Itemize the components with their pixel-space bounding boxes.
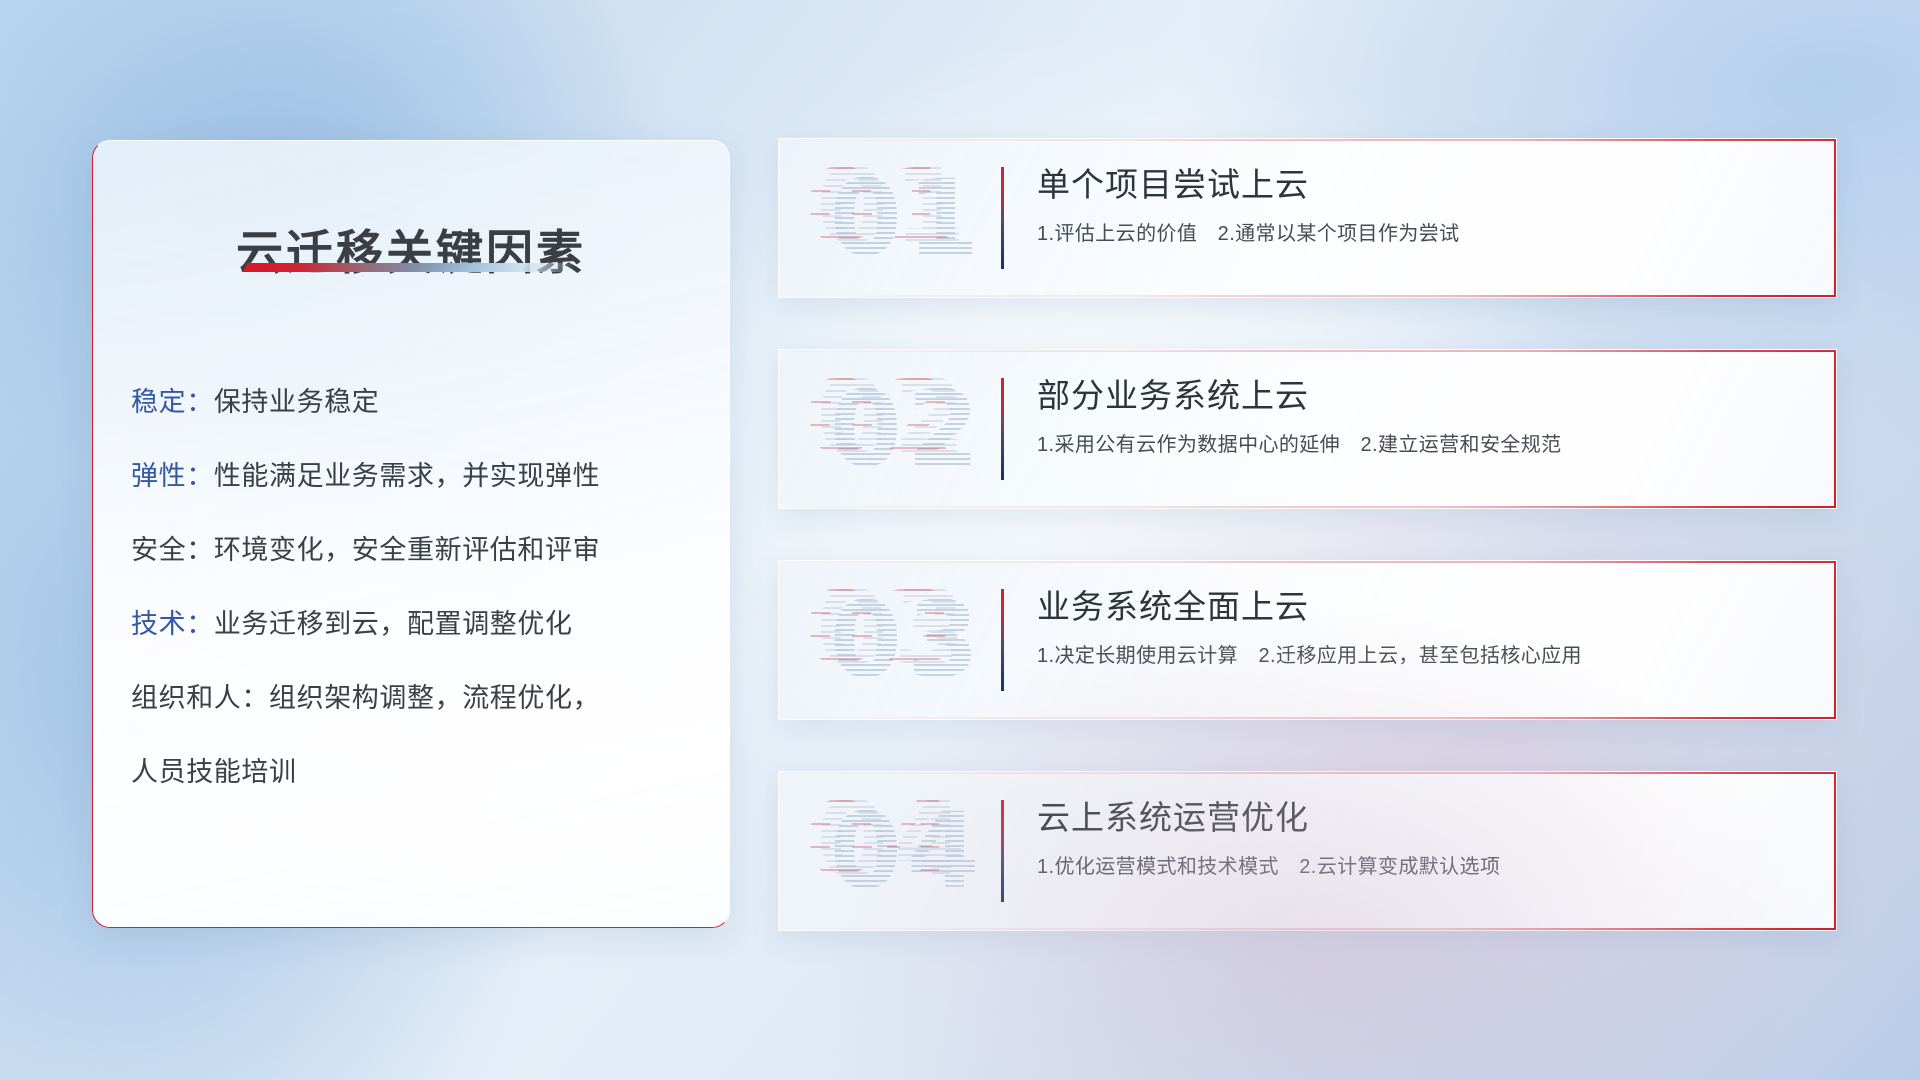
- card-right-accent-rail: [1834, 350, 1836, 508]
- key-factors-list: 稳定：保持业务稳定弹性：性能满足业务需求，并实现弹性安全：环境变化，安全重新评估…: [93, 365, 729, 809]
- factor-key: 组织和人：: [131, 683, 269, 713]
- step-subtitle: 1.采用公有云作为数据中心的延伸 2.建立运营和安全规范: [1037, 431, 1810, 459]
- step-number-red-glitch-layer: 04: [805, 779, 960, 901]
- step-number-ghost-layer: 03: [816, 567, 971, 689]
- step-card[interactable]: 020202部分业务系统上云1.采用公有云作为数据中心的延伸 2.建立运营和安全…: [778, 349, 1837, 509]
- step-number-red-glitch-layer: 02: [805, 357, 960, 479]
- step-title: 业务系统全面上云: [1037, 585, 1810, 629]
- step-title: 单个项目尝试上云: [1037, 163, 1810, 207]
- step-card[interactable]: 010101单个项目尝试上云1.评估上云的价值 2.通常以某个项目作为尝试: [778, 138, 1837, 298]
- step-accent-bar: [1001, 378, 1004, 480]
- card-bottom-accent-rail: [779, 717, 1836, 719]
- step-subtitle: 1.决定长期使用云计算 2.迁移应用上云，甚至包括核心应用: [1037, 642, 1810, 670]
- migration-steps-list: 010101单个项目尝试上云1.评估上云的价值 2.通常以某个项目作为尝试020…: [778, 138, 1837, 982]
- factor-key: 安全：: [131, 535, 214, 565]
- card-right-accent-rail: [1834, 772, 1836, 930]
- step-accent-bar: [1001, 800, 1004, 902]
- key-factors-panel: 云迁移关键因素 稳定：保持业务稳定弹性：性能满足业务需求，并实现弹性安全：环境变…: [92, 140, 730, 928]
- step-number-red-glitch-layer: 01: [805, 146, 960, 268]
- slide-canvas: 云迁移关键因素 稳定：保持业务稳定弹性：性能满足业务需求，并实现弹性安全：环境变…: [0, 0, 1920, 1080]
- step-number-ghost-layer: 01: [816, 145, 971, 267]
- card-top-accent-rail: [779, 350, 1836, 352]
- step-number-glitch-icon: 040404: [809, 778, 1005, 924]
- factor-value: 业务迁移到云，配置调整优化: [214, 609, 573, 639]
- step-accent-bar: [1001, 589, 1004, 691]
- card-top-accent-rail: [779, 561, 1836, 563]
- factor-value: 环境变化，安全重新评估和评审: [214, 535, 600, 565]
- factor-value: 保持业务稳定: [214, 387, 380, 417]
- step-number-ghost-layer: 02: [816, 356, 971, 478]
- factor-row: 组织和人：组织架构调整，流程优化，: [131, 661, 693, 735]
- step-number-red-glitch-layer: 03: [805, 568, 960, 690]
- step-number-glitch-icon: 030303: [809, 567, 1005, 713]
- factor-row: 安全：环境变化，安全重新评估和评审: [131, 513, 693, 587]
- factor-key: 技术：: [131, 609, 214, 639]
- card-bottom-accent-rail: [779, 506, 1836, 508]
- factor-row: 稳定：保持业务稳定: [131, 365, 693, 439]
- step-card[interactable]: 040404云上系统运营优化1.优化运营模式和技术模式 2.云计算变成默认选项: [778, 771, 1837, 931]
- card-bottom-accent-rail: [779, 928, 1836, 930]
- step-title: 部分业务系统上云: [1037, 374, 1810, 418]
- step-subtitle: 1.优化运营模式和技术模式 2.云计算变成默认选项: [1037, 853, 1810, 881]
- step-number-glitch-icon: 020202: [809, 356, 1005, 502]
- factor-row: 弹性：性能满足业务需求，并实现弹性: [131, 439, 693, 513]
- card-top-accent-rail: [779, 139, 1836, 141]
- step-title: 云上系统运营优化: [1037, 796, 1810, 840]
- factor-key: 稳定：: [131, 387, 214, 417]
- page-title: 云迁移关键因素: [93, 214, 729, 283]
- step-accent-bar: [1001, 167, 1004, 269]
- card-right-accent-rail: [1834, 139, 1836, 297]
- step-number-label: 03: [830, 579, 985, 701]
- factor-row: 技术：业务迁移到云，配置调整优化: [131, 587, 693, 661]
- step-number-ghost-layer: 04: [816, 778, 971, 900]
- step-number-glitch-icon: 010101: [809, 145, 1005, 291]
- step-text-block: 部分业务系统上云1.采用公有云作为数据中心的延伸 2.建立运营和安全规范: [1037, 374, 1810, 459]
- step-number-label: 01: [830, 157, 985, 279]
- factor-value: 人员技能培训: [131, 757, 297, 787]
- factor-value: 组织架构调整，流程优化，: [269, 683, 600, 713]
- step-text-block: 业务系统全面上云1.决定长期使用云计算 2.迁移应用上云，甚至包括核心应用: [1037, 585, 1810, 670]
- step-text-block: 云上系统运营优化1.优化运营模式和技术模式 2.云计算变成默认选项: [1037, 796, 1810, 881]
- factor-value: 性能满足业务需求，并实现弹性: [214, 461, 600, 491]
- step-text-block: 单个项目尝试上云1.评估上云的价值 2.通常以某个项目作为尝试: [1037, 163, 1810, 248]
- factor-row: 人员技能培训: [131, 735, 693, 809]
- card-right-accent-rail: [1834, 561, 1836, 719]
- card-top-accent-rail: [779, 772, 1836, 774]
- step-number-label: 04: [830, 790, 985, 912]
- factor-key: 弹性：: [131, 461, 214, 491]
- step-number-label: 02: [830, 368, 985, 490]
- card-bottom-accent-rail: [779, 295, 1836, 297]
- step-subtitle: 1.评估上云的价值 2.通常以某个项目作为尝试: [1037, 220, 1810, 248]
- step-card[interactable]: 030303业务系统全面上云1.决定长期使用云计算 2.迁移应用上云，甚至包括核…: [778, 560, 1837, 720]
- title-underline-accent: [243, 263, 578, 272]
